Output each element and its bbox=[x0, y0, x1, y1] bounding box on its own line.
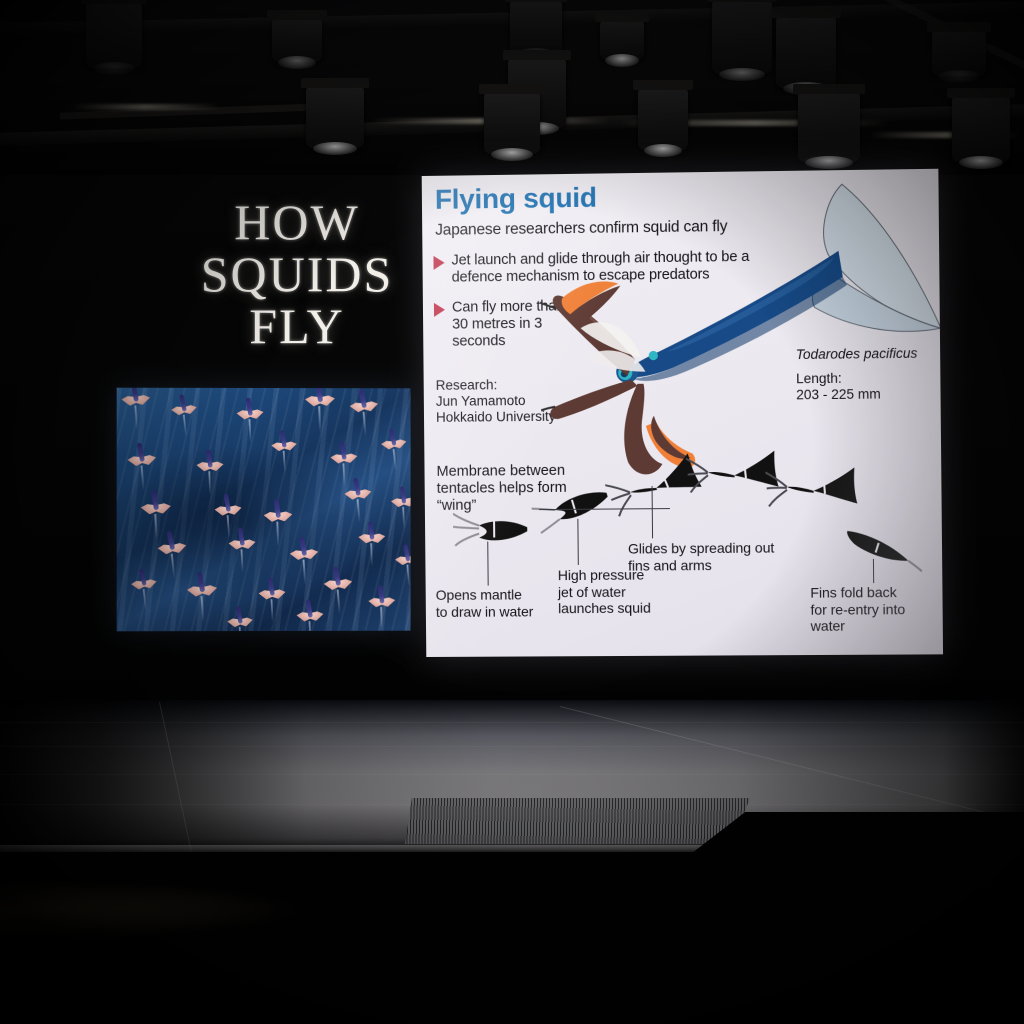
photo-flying-squid bbox=[258, 584, 286, 600]
theatre-stage: HOW SQUIDS FLY Flying squid Japanese res… bbox=[0, 0, 1024, 1024]
stage-light-fixture bbox=[798, 92, 860, 162]
apron-warm-spill bbox=[0, 880, 300, 940]
stage-light-fixture bbox=[86, 2, 142, 68]
photo-flying-squid bbox=[227, 612, 253, 627]
squid-illustration bbox=[539, 175, 943, 481]
leader-line-opens-mantle bbox=[487, 542, 488, 586]
photo-flying-squid bbox=[323, 573, 353, 591]
photo-flying-squid bbox=[394, 550, 410, 566]
photo-flying-squid bbox=[130, 574, 157, 590]
foreground-riser bbox=[684, 812, 1024, 1024]
stage-light-fixture bbox=[638, 88, 688, 150]
caption-glides: Glides by spreading out fins and arms bbox=[628, 539, 775, 573]
stage-light-fixture bbox=[952, 96, 1010, 162]
leader-line-fins-fold bbox=[873, 559, 874, 583]
title-line-3: FLY bbox=[178, 300, 416, 352]
photo-flying-squid bbox=[236, 404, 264, 420]
projected-title: HOW SQUIDS FLY bbox=[178, 196, 416, 352]
sequence-squid-5-glide bbox=[765, 463, 862, 514]
caption-high-pressure-jet: High pressure jet of water launches squi… bbox=[558, 566, 651, 616]
squid-illustration-svg bbox=[539, 175, 943, 481]
projected-infographic-slide: Flying squid Japanese researchers confir… bbox=[422, 169, 943, 657]
photo-flying-squid bbox=[368, 592, 395, 607]
photo-flying-squid bbox=[127, 449, 157, 467]
title-line-2: SQUIDS bbox=[178, 248, 416, 300]
stage-light-fixture bbox=[712, 0, 772, 74]
stage-light-fixture bbox=[600, 20, 644, 60]
stage-light-fixture bbox=[484, 92, 540, 154]
photo-flying-squid bbox=[157, 537, 187, 555]
photo-flying-squid bbox=[349, 395, 379, 413]
floor-trap-grate bbox=[405, 798, 750, 844]
photo-flying-squid bbox=[344, 484, 372, 501]
caption-opens-mantle: Opens mantle to draw in water bbox=[436, 586, 534, 620]
caption-fins-fold-back: Fins fold back for re-entry into water bbox=[810, 584, 905, 634]
photo-flying-squid bbox=[214, 500, 242, 516]
photo-flying-squid bbox=[186, 579, 217, 597]
research-credit: Research: Jun Yamamoto Hokkaido Universi… bbox=[436, 377, 556, 426]
sequence-squid-1-opens-mantle bbox=[453, 511, 532, 548]
photo-flying-squid bbox=[121, 389, 151, 406]
photo-flying-squid bbox=[263, 506, 292, 522]
leader-line-jet bbox=[577, 519, 578, 565]
stage-light-fixture bbox=[306, 86, 364, 148]
stage-light-fixture bbox=[932, 30, 986, 76]
photo-flying-squid bbox=[358, 528, 385, 543]
projected-photograph bbox=[117, 388, 411, 632]
photo-flying-squid bbox=[289, 543, 318, 560]
overhead-lighting-rig bbox=[0, 0, 1024, 175]
photo-flying-squid bbox=[305, 390, 335, 407]
stage-light-fixture bbox=[272, 18, 322, 62]
photo-flying-squid bbox=[228, 534, 256, 550]
triangle-bullet-icon bbox=[434, 303, 445, 317]
rig-glow-strip bbox=[70, 104, 220, 110]
stage-light-fixture bbox=[776, 16, 836, 88]
photo-flying-squid bbox=[380, 434, 407, 450]
photo-flying-squid bbox=[296, 606, 324, 622]
photo-flying-squid bbox=[391, 493, 411, 508]
photo-flying-squid bbox=[271, 436, 297, 451]
photo-flying-squid bbox=[330, 448, 358, 464]
photo-flying-squid bbox=[170, 400, 197, 416]
triangle-bullet-icon bbox=[433, 256, 444, 270]
sequence-squid-6-fins-folded bbox=[837, 525, 928, 581]
photo-flying-squid bbox=[196, 456, 224, 471]
title-line-1: HOW bbox=[178, 196, 416, 248]
photo-flying-squid bbox=[140, 497, 171, 515]
stage-light-fixture bbox=[510, 0, 562, 54]
